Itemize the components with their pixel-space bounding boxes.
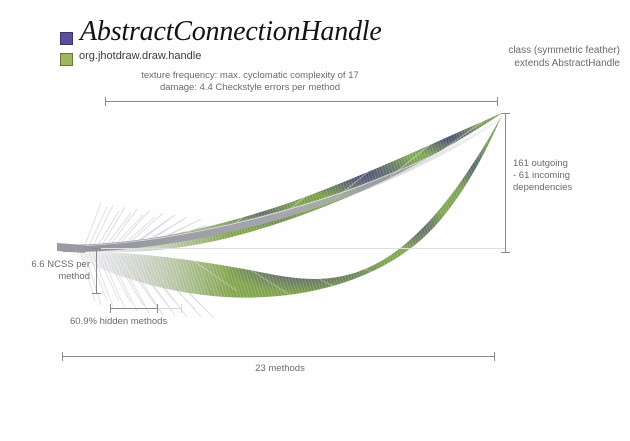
ncss-line2: method	[58, 271, 90, 282]
dependencies-line2: - 61 incoming	[513, 170, 570, 181]
ncss-label: 6.6 NCSS per method	[14, 259, 90, 283]
feather-rachis	[63, 115, 503, 252]
texture-note-line1: texture frequency: max. cyclomatic compl…	[0, 70, 500, 82]
ncss-tick-top	[92, 248, 101, 249]
dependencies-measure-bar	[505, 113, 506, 252]
feather-visualization-canvas: AbstractConnectionHandle org.jhotdraw.dr…	[0, 0, 630, 441]
dependencies-line1: 161 outgoing	[513, 158, 568, 169]
dependencies-label: 161 outgoing - 61 incoming dependencies	[513, 158, 572, 194]
top-measure-tick-right	[497, 97, 498, 106]
hidden-methods-tick-middle	[157, 304, 158, 313]
hidden-methods-label: 60.9% hidden methods	[70, 316, 167, 328]
hidden-methods-tick-right	[181, 304, 182, 313]
dependencies-line3: dependencies	[513, 182, 572, 193]
dependencies-tick-bottom	[501, 252, 510, 253]
ncss-line1: 6.6 NCSS per	[31, 259, 90, 270]
class-note: class (symmetric feather) extends Abstra…	[508, 45, 620, 70]
ncss-tick-bottom	[92, 293, 101, 294]
package-color-swatch	[60, 53, 73, 66]
hidden-methods-measure-bar	[110, 308, 157, 309]
class-note-line2: extends AbstractHandle	[514, 58, 620, 69]
baseline-guide	[96, 248, 506, 249]
feather-calamus	[57, 243, 85, 253]
hidden-methods-tick-left	[110, 304, 111, 313]
feather-graphic	[55, 95, 515, 325]
texture-note: texture frequency: max. cyclomatic compl…	[0, 70, 630, 94]
class-color-swatch	[60, 32, 73, 45]
top-measure-tick-left	[105, 97, 106, 106]
methods-measure-bar	[62, 356, 495, 357]
texture-note-line2: damage: 4.4 Checkstyle errors per method	[0, 82, 500, 94]
hidden-methods-measure-bar-extension	[157, 308, 182, 309]
dependencies-tick-top	[501, 113, 510, 114]
ncss-measure-bar	[96, 248, 97, 294]
package-name: org.jhotdraw.draw.handle	[79, 50, 201, 62]
methods-tick-left	[62, 352, 63, 361]
class-note-line1: class (symmetric feather)	[508, 45, 620, 56]
page-title: AbstractConnectionHandle	[80, 16, 382, 48]
methods-tick-right	[494, 352, 495, 361]
methods-label: 23 methods	[0, 363, 630, 375]
top-measure-bar	[105, 101, 497, 102]
